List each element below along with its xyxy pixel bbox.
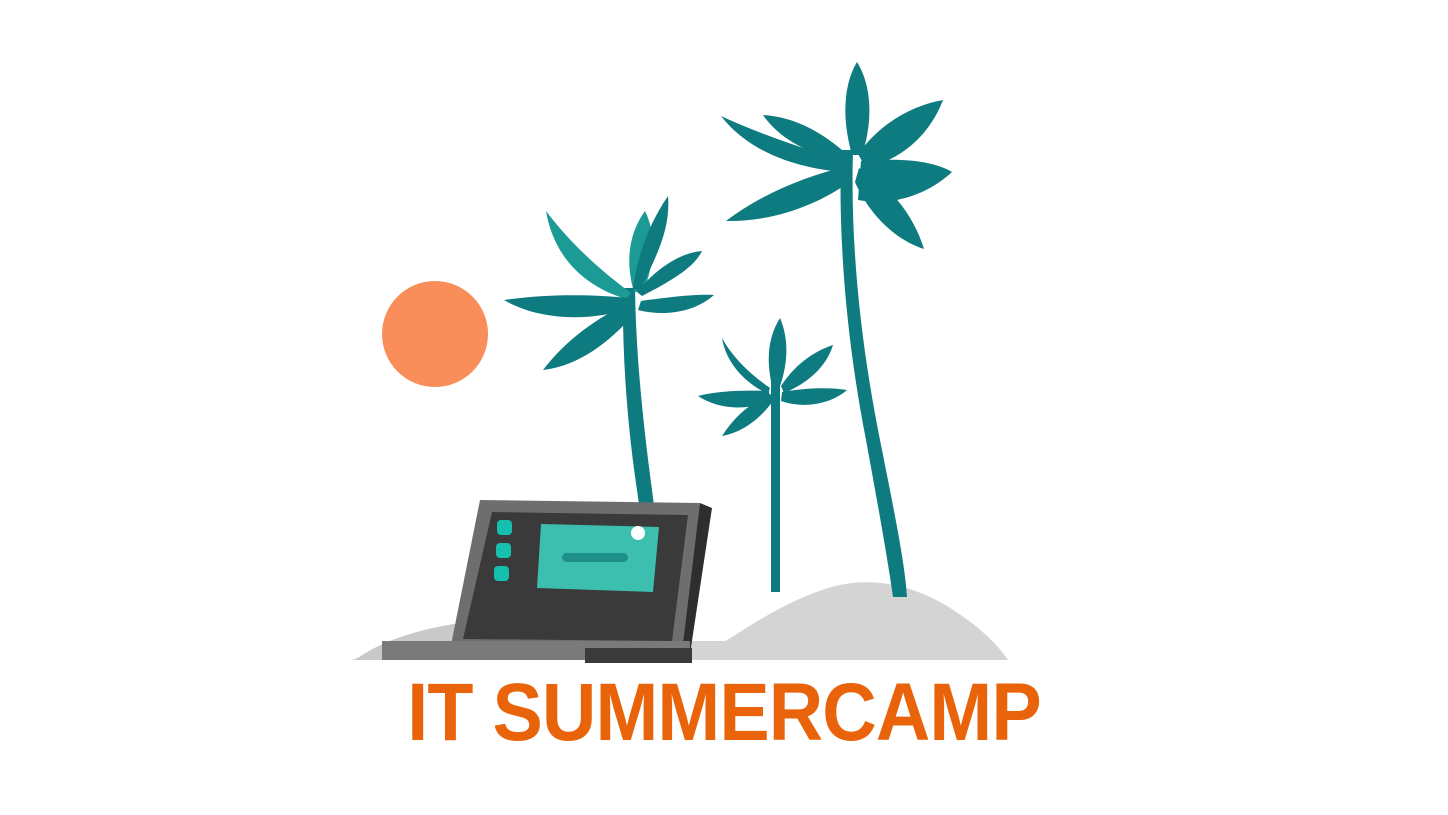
screen-status-dot xyxy=(631,526,645,540)
mid-palm-fronds xyxy=(504,196,714,370)
tall-palm-tree xyxy=(721,62,952,597)
logo-canvas: IT SUMMERCAMP xyxy=(0,0,1448,815)
sun-icon xyxy=(382,281,488,387)
tall-palm-fronds xyxy=(721,62,952,249)
small-palm-tree xyxy=(698,318,847,592)
page-title: IT SUMMERCAMP xyxy=(58,672,1390,754)
screen-content-bar xyxy=(562,553,628,562)
